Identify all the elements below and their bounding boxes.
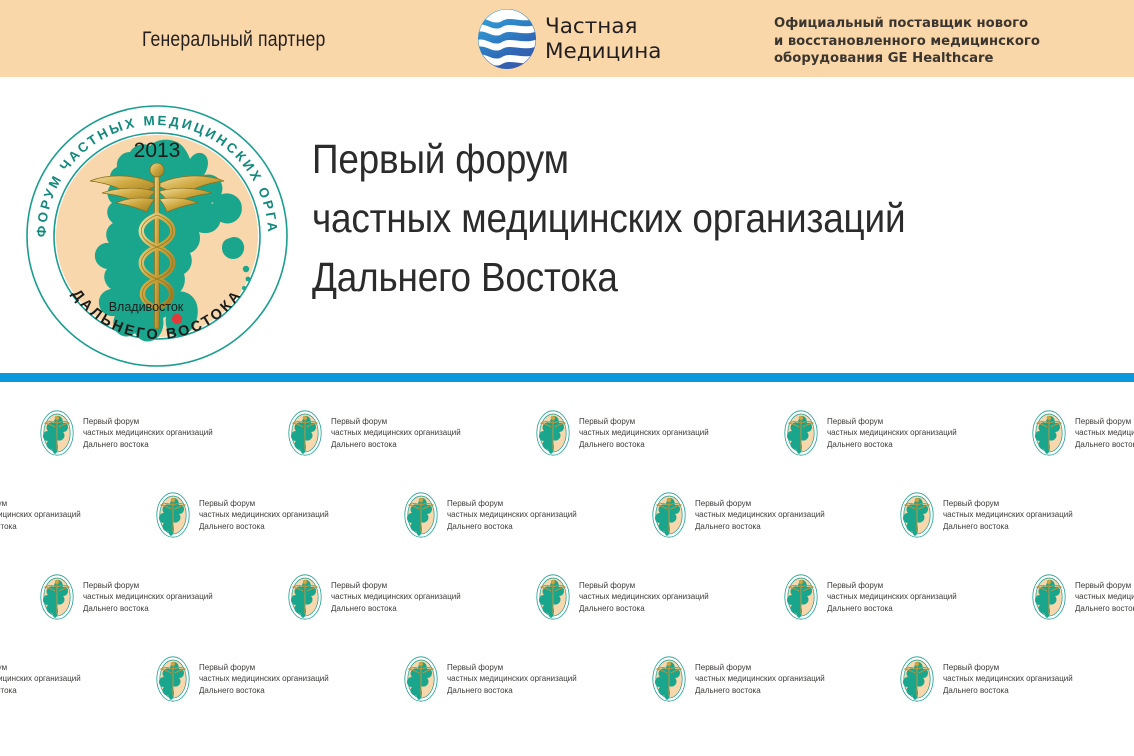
watermark-tile: Первый форумчастных медицинских организа… — [1032, 410, 1134, 456]
hero-section: 2013 Владивосток ПЕРВЫЙ ФОРУМ ЧАСТНЫХ МЕ… — [0, 77, 1134, 373]
watermark-tile: Первый форумчастных медицинских организа… — [0, 492, 158, 538]
watermark-tile-line1: Первый форум — [827, 416, 957, 428]
watermark-tile-line2: частных медицинских организаций — [199, 673, 329, 685]
watermark-tile-line1: Первый форум — [943, 662, 1073, 674]
watermark-tile-text: Первый форумчастных медицинских организа… — [579, 416, 709, 451]
forum-oval-emblem-icon — [404, 656, 438, 702]
watermark-tile-text: Первый форумчастных медицинских организа… — [943, 498, 1073, 533]
watermark-row: Первый форумчастных медицинских организа… — [0, 492, 1134, 582]
forum-oval-emblem-icon — [900, 656, 934, 702]
forum-oval-emblem-icon — [784, 410, 818, 456]
watermark-tile-line2: частных медицинских организаций — [943, 509, 1073, 521]
watermark-tile-line1: Первый форум — [0, 662, 81, 674]
watermark-tile-line2: частных медицинских организаций — [1075, 591, 1134, 603]
watermark-tile-text: Первый форумчастных медицинских организа… — [695, 498, 825, 533]
watermark-tile-line2: частных медицинских организаций — [447, 509, 577, 521]
watermark-tile-line1: Первый форум — [943, 498, 1073, 510]
watermark-tile-text: Первый форумчастных медицинских организа… — [83, 580, 213, 615]
watermark-tile-line3: Дальнего востока — [695, 521, 825, 533]
sponsor-logo: Частная Медицина — [478, 9, 661, 69]
watermark-tile-line3: Дальнего востока — [827, 439, 957, 451]
watermark-tile: Первый форумчастных медицинских организа… — [652, 492, 902, 538]
watermark-tile-line3: Дальнего востока — [1075, 439, 1134, 451]
watermark-tile-line3: Дальнего востока — [943, 685, 1073, 697]
page-title: Первый форум частных медицинских организ… — [312, 130, 1032, 307]
watermark-tile-text: Первый форумчастных медицинских организа… — [827, 416, 957, 451]
watermark-tile-text: Первый форумчастных медицинских организа… — [0, 498, 81, 533]
watermark-tile-line1: Первый форум — [447, 498, 577, 510]
sponsor-name-line2: Медицина — [545, 39, 661, 64]
watermark-tile-line1: Первый форум — [331, 580, 461, 592]
forum-oval-emblem-icon — [784, 574, 818, 620]
watermark-tile-line2: частных медицинских организаций — [331, 427, 461, 439]
watermark-tile: Первый форумчастных медицинских организа… — [536, 410, 786, 456]
forum-round-emblem-icon: 2013 Владивосток ПЕРВЫЙ ФОРУМ ЧАСТНЫХ МЕ… — [24, 103, 290, 369]
watermark-tile: Первый форумчастных медицинских организа… — [900, 656, 1134, 702]
watermark-tile-line2: частных медицинских организаций — [827, 591, 957, 603]
watermark-tile: Первый форумчастных медицинских организа… — [288, 410, 538, 456]
page-title-line2: частных медицинских организаций — [312, 189, 1032, 248]
watermark-tile-line2: частных медицинских организаций — [199, 509, 329, 521]
watermark-tile-text: Первый форумчастных медицинских организа… — [1075, 416, 1134, 451]
watermark-tile-line3: Дальнего востока — [199, 685, 329, 697]
watermark-tile: Первый форумчастных медицинских организа… — [40, 410, 290, 456]
watermark-tile-text: Первый форумчастных медицинских организа… — [199, 498, 329, 533]
watermark-tile-line1: Первый форум — [83, 580, 213, 592]
watermark-tile: Первый форумчастных медицинских организа… — [40, 574, 290, 620]
watermark-tile-line2: частных медицинских организаций — [331, 591, 461, 603]
city-dot-icon — [172, 314, 182, 324]
watermark-tile-line2: частных медицинских организаций — [0, 673, 81, 685]
supplier-note-line2: и восстановленного медицинского — [774, 33, 1040, 51]
supplier-note-line1: Официальный поставщик нового — [774, 15, 1040, 33]
watermark-tile-line1: Первый форум — [331, 416, 461, 428]
watermark-tile-text: Первый форумчастных медицинских организа… — [579, 580, 709, 615]
watermark-tile-line1: Первый форум — [447, 662, 577, 674]
watermark-tile-text: Первый форумчастных медицинских организа… — [1075, 580, 1134, 615]
watermark-tile-line2: частных медицинских организаций — [83, 591, 213, 603]
watermark-tile-line3: Дальнего востока — [447, 685, 577, 697]
forum-oval-emblem-icon — [652, 492, 686, 538]
watermark-tile: Первый форумчастных медицинских организа… — [404, 492, 654, 538]
watermark-tile-line1: Первый форум — [579, 580, 709, 592]
watermark-tile-line3: Дальнего востока — [1075, 603, 1134, 615]
watermark-tile-line3: Дальнего востока — [0, 685, 81, 697]
forum-oval-emblem-icon — [404, 492, 438, 538]
watermark-pattern: Первый форумчастных медицинских организа… — [0, 382, 1134, 756]
watermark-tile-text: Первый форумчастных медицинских организа… — [331, 416, 461, 451]
watermark-tile-line1: Первый форум — [1075, 580, 1134, 592]
forum-oval-emblem-icon — [288, 574, 322, 620]
watermark-tile-line2: частных медицинских организаций — [447, 673, 577, 685]
watermark-tile-line3: Дальнего востока — [83, 439, 213, 451]
watermark-tile-line3: Дальнего востока — [331, 439, 461, 451]
blue-globe-waves-icon — [478, 9, 536, 69]
watermark-tile: Первый форумчастных медицинских организа… — [288, 574, 538, 620]
watermark-tile-line2: частных медицинских организаций — [0, 509, 81, 521]
watermark-tile-line1: Первый форум — [1075, 416, 1134, 428]
watermark-tile-line2: частных медицинских организаций — [579, 591, 709, 603]
watermark-tile-line3: Дальнего востока — [695, 685, 825, 697]
watermark-tile-line1: Первый форум — [579, 416, 709, 428]
watermark-tile-text: Первый форумчастных медицинских организа… — [827, 580, 957, 615]
watermark-tile-line2: частных медицинских организаций — [695, 509, 825, 521]
watermark-tile-text: Первый форумчастных медицинских организа… — [83, 416, 213, 451]
partner-bar: Генеральный партнер — [0, 0, 1134, 77]
watermark-tile: Первый форумчастных медицинских организа… — [536, 574, 786, 620]
sponsor-name: Частная Медицина — [545, 14, 661, 64]
watermark-tile: Первый форумчастных медицинских организа… — [784, 410, 1034, 456]
emblem-city-label: Владивосток — [109, 300, 184, 314]
blue-divider — [0, 373, 1134, 382]
watermark-tile-text: Первый форумчастных медицинских организа… — [695, 662, 825, 697]
watermark-tile: Первый форумчастных медицинских организа… — [652, 656, 902, 702]
watermark-tile-line3: Дальнего востока — [0, 521, 81, 533]
watermark-tile-line3: Дальнего востока — [199, 521, 329, 533]
page-title-line3: Дальнего Востока — [312, 248, 1032, 307]
watermark-row: Первый форумчастных медицинских организа… — [0, 410, 1134, 500]
watermark-tile-line1: Первый форум — [695, 662, 825, 674]
watermark-tile-line1: Первый форум — [199, 662, 329, 674]
watermark-tile: Первый форумчастных медицинских организа… — [156, 656, 406, 702]
watermark-tile-line2: частных медицинских организаций — [1075, 427, 1134, 439]
watermark-tile-text: Первый форумчастных медицинских организа… — [447, 662, 577, 697]
watermark-tile-line3: Дальнего востока — [331, 603, 461, 615]
watermark-tile-line1: Первый форум — [827, 580, 957, 592]
watermark-row: Первый форумчастных медицинских организа… — [0, 656, 1134, 746]
watermark-tile-line2: частных медицинских организаций — [83, 427, 213, 439]
watermark-tile: Первый форумчастных медицинских организа… — [156, 492, 406, 538]
watermark-tile-line1: Первый форум — [0, 498, 81, 510]
forum-oval-emblem-icon — [1032, 410, 1066, 456]
supplier-note-line3: оборудования GE Healthcare — [774, 50, 1040, 68]
general-partner-label: Генеральный партнер — [142, 28, 325, 52]
forum-oval-emblem-icon — [40, 410, 74, 456]
event-banner: Генеральный партнер — [0, 0, 1134, 756]
watermark-tile-line2: частных медицинских организаций — [943, 673, 1073, 685]
watermark-tile-line2: частных медицинских организаций — [827, 427, 957, 439]
forum-oval-emblem-icon — [156, 492, 190, 538]
forum-oval-emblem-icon — [1032, 574, 1066, 620]
forum-oval-emblem-icon — [536, 574, 570, 620]
watermark-tile-line3: Дальнего востока — [579, 603, 709, 615]
watermark-tile-line3: Дальнего востока — [83, 603, 213, 615]
sponsor-name-line1: Частная — [545, 14, 661, 39]
watermark-tile: Первый форумчастных медицинских организа… — [0, 656, 158, 702]
watermark-tile: Первый форумчастных медицинских организа… — [784, 574, 1034, 620]
forum-oval-emblem-icon — [652, 656, 686, 702]
watermark-tile: Первый форумчастных медицинских организа… — [404, 656, 654, 702]
watermark-tile-line3: Дальнего востока — [447, 521, 577, 533]
watermark-tile-line2: частных медицинских организаций — [695, 673, 825, 685]
watermark-tile-text: Первый форумчастных медицинских организа… — [0, 662, 81, 697]
watermark-tile-line3: Дальнего востока — [827, 603, 957, 615]
forum-oval-emblem-icon — [900, 492, 934, 538]
watermark-row: Первый форумчастных медицинских организа… — [0, 574, 1134, 664]
watermark-tile-line2: частных медицинских организаций — [579, 427, 709, 439]
watermark-tile: Первый форумчастных медицинских организа… — [1032, 574, 1134, 620]
forum-oval-emblem-icon — [156, 656, 190, 702]
watermark-tile-text: Первый форумчастных медицинских организа… — [331, 580, 461, 615]
forum-oval-emblem-icon — [40, 574, 74, 620]
watermark-tile-text: Первый форумчастных медицинских организа… — [447, 498, 577, 533]
forum-oval-emblem-icon — [536, 410, 570, 456]
watermark-tile-text: Первый форумчастных медицинских организа… — [199, 662, 329, 697]
watermark-tile-line1: Первый форум — [83, 416, 213, 428]
page-title-line1: Первый форум — [312, 130, 1032, 189]
watermark-tile: Первый форумчастных медицинских организа… — [900, 492, 1134, 538]
forum-oval-emblem-icon — [288, 410, 322, 456]
supplier-note: Официальный поставщик нового и восстанов… — [774, 15, 1040, 68]
watermark-tile-line3: Дальнего востока — [943, 521, 1073, 533]
emblem-year: 2013 — [134, 139, 181, 162]
watermark-tile-line1: Первый форум — [199, 498, 329, 510]
watermark-tile-text: Первый форумчастных медицинских организа… — [943, 662, 1073, 697]
watermark-tile-line3: Дальнего востока — [579, 439, 709, 451]
watermark-tile-line1: Первый форум — [695, 498, 825, 510]
